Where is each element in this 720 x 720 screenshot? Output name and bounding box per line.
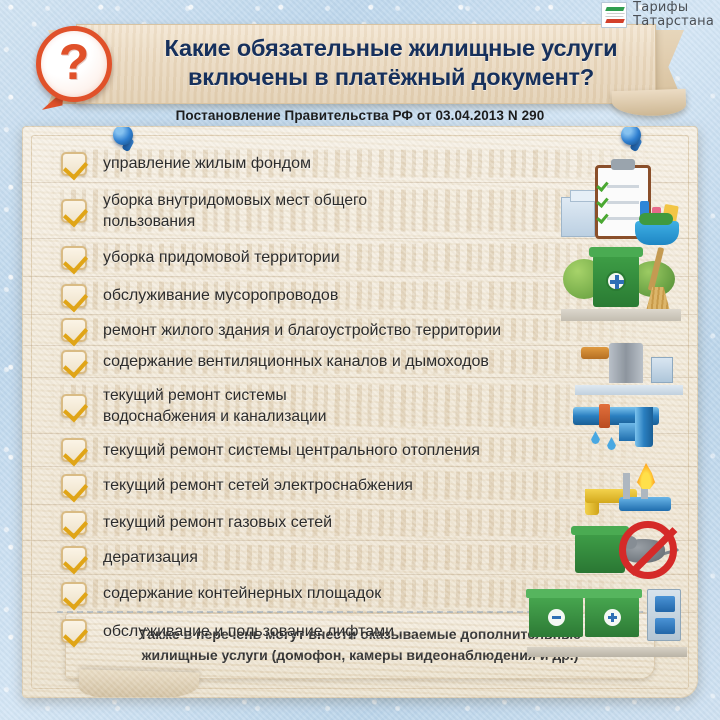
bubble-glyph: ? [36, 26, 112, 102]
checked-checkbox-icon[interactable] [61, 582, 87, 606]
pushpin-icon-left [111, 126, 137, 151]
list-item-label: ремонт жилого здания и благоустройство т… [103, 320, 501, 341]
rat-prohibited-icon [573, 519, 681, 581]
pushpin-icon-right [619, 126, 645, 151]
tatarstan-flag-icon [601, 2, 627, 28]
banner-body: Какие обязательные жилищные услуги включ… [76, 24, 656, 104]
waste-containers-elevator-panel-icon [527, 579, 687, 657]
checked-checkbox-icon[interactable] [61, 511, 87, 535]
list-item-label: управление жилым фондом [103, 153, 311, 174]
checked-checkbox-icon[interactable] [61, 394, 87, 418]
list-item-label: содержание контейнерных площадок [103, 583, 381, 604]
page-title: Какие обязательные жилищные услуги включ… [147, 34, 635, 92]
infographic-poster: Тарифы Татарстана Какие обязательные жил… [0, 0, 720, 720]
subtitle: Постановление Правительства РФ от 03.04.… [0, 108, 720, 123]
checked-checkbox-icon[interactable] [61, 350, 87, 374]
checked-checkbox-icon[interactable] [61, 199, 87, 223]
checked-checkbox-icon[interactable] [61, 619, 87, 643]
checked-checkbox-icon[interactable] [61, 152, 87, 176]
list-item-label: текущий ремонт системы водоснабжения и к… [103, 385, 363, 427]
brand-text: Тарифы Татарстана [633, 1, 714, 29]
water-pipes-icon [573, 395, 685, 457]
list-item-label: текущий ремонт газовых сетей [103, 512, 332, 533]
list-item-label: дератизация [103, 547, 198, 568]
checked-checkbox-icon[interactable] [61, 284, 87, 308]
list-item-label: текущий ремонт сетей электроснабжения [103, 475, 413, 496]
brand-line-2: Татарстана [633, 15, 714, 29]
chimney-ventilation-icon [575, 339, 683, 395]
brand-logo: Тарифы Татарстана [601, 1, 714, 29]
content-card: управление жилым фондом уборка внутридом… [22, 126, 698, 698]
green-trash-bin-broom-icon [561, 243, 681, 321]
checked-checkbox-icon[interactable] [61, 546, 87, 570]
list-item-label: уборка внутридомовых мест общего пользов… [103, 190, 453, 232]
title-line-2: включены в платёжный документ? [147, 63, 635, 92]
list-item-label: текущий ремонт системы центрального отоп… [103, 440, 480, 461]
gas-pipe-flame-icon [579, 463, 683, 523]
checked-checkbox-icon[interactable] [61, 246, 87, 270]
list-item-label: уборка придомовой территории [103, 247, 340, 268]
checked-checkbox-icon[interactable] [61, 318, 87, 342]
list-item-label: обслуживание и пользование лифтами [103, 621, 394, 642]
checked-checkbox-icon[interactable] [61, 438, 87, 462]
question-mark-bubble-icon: ? [36, 26, 112, 102]
title-banner: Какие обязательные жилищные услуги включ… [48, 24, 684, 108]
clipboard-cleaning-supplies-icon [561, 159, 679, 245]
card-corner-curl [79, 669, 200, 698]
list-item-label: обслуживание мусоропроводов [103, 285, 338, 306]
checked-checkbox-icon[interactable] [61, 474, 87, 498]
list-item-label: содержание вентиляционных каналов и дымо… [103, 351, 489, 372]
title-line-1: Какие обязательные жилищные услуги [147, 34, 635, 63]
brand-line-1: Тарифы [633, 1, 714, 15]
